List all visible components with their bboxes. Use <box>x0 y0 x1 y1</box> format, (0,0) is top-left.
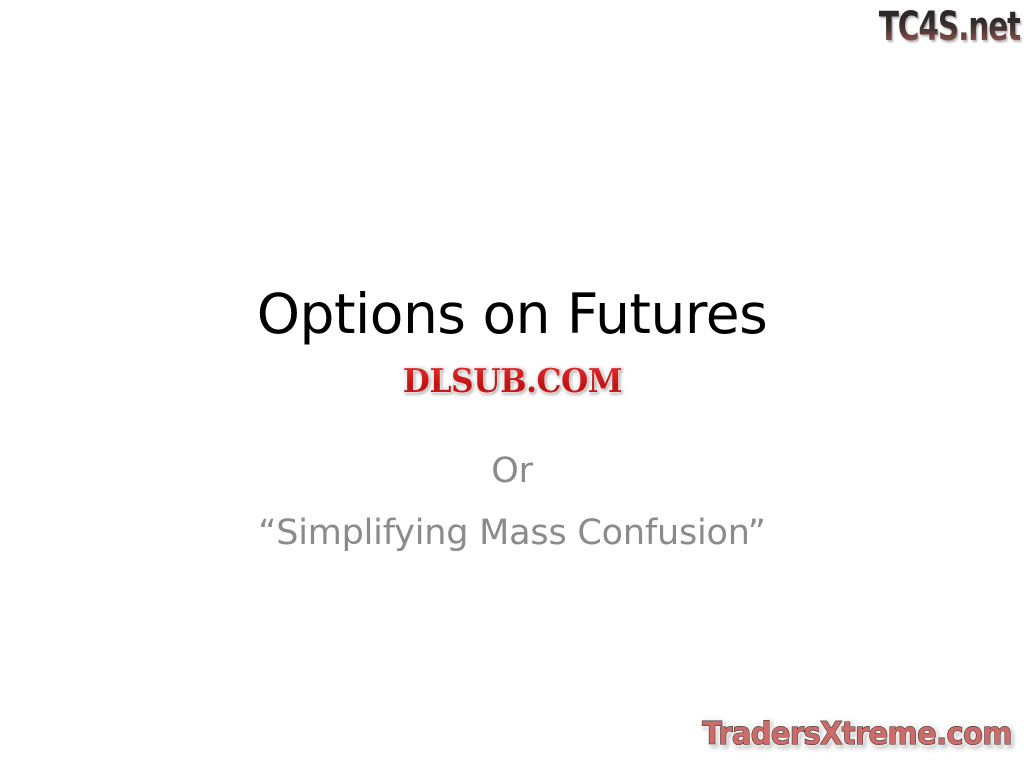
tradersxtreme-watermark[interactable]: TradersXtreme.com <box>679 712 1012 756</box>
subtitle-line-2: “Simplifying Mass Confusion” <box>0 502 1024 564</box>
slide-subtitle: Or “Simplifying Mass Confusion” <box>0 440 1024 564</box>
presentation-slide: TC4S.net Options on Futures DLSUB.COM Or… <box>0 0 1024 768</box>
dlsub-watermark[interactable]: DLSUB.COM <box>0 362 1024 400</box>
subtitle-line-1: Or <box>0 440 1024 502</box>
tradersxtreme-watermark-label: TradersXtreme.com <box>702 716 1012 752</box>
dlsub-watermark-label: DLSUB.COM <box>402 362 621 400</box>
title-block: Options on Futures <box>0 283 1024 345</box>
slide-title: Options on Futures <box>0 283 1024 345</box>
tc4s-watermark[interactable]: TC4S.net <box>830 2 1020 52</box>
tc4s-watermark-label: TC4S.net <box>879 5 1020 49</box>
